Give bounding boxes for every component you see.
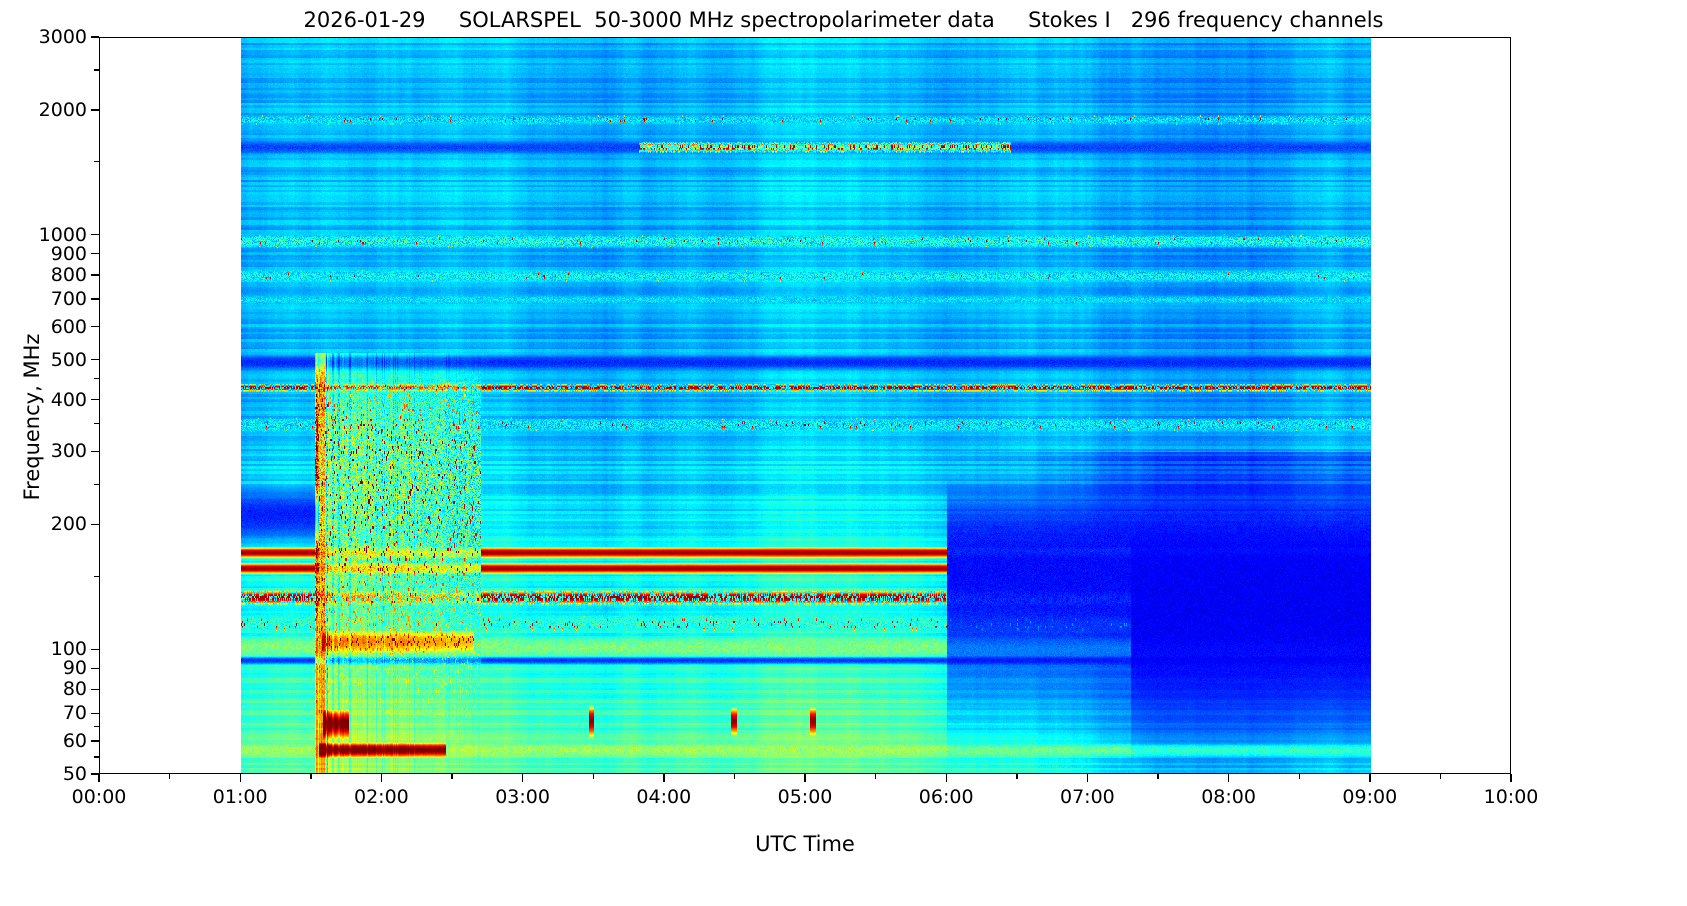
y-tick-mark (91, 524, 99, 525)
x-tick-mark-minor (1016, 774, 1017, 779)
x-tick-mark-minor (1157, 774, 1158, 779)
y-tick-label: 70 (63, 702, 87, 724)
x-tick-label: 08:00 (1201, 786, 1256, 808)
x-tick-mark-minor (734, 774, 735, 779)
x-axis-label: UTC Time (99, 832, 1511, 856)
y-tick-label: 50 (63, 763, 87, 785)
x-tick-mark (946, 774, 947, 782)
x-tick-mark-minor (169, 774, 170, 779)
y-tick-mark (91, 326, 99, 327)
y-tick-mark (91, 274, 99, 275)
y-tick-label: 80 (63, 678, 87, 700)
y-axis: 3000200010009008007006005004003002001009… (0, 37, 99, 774)
x-tick-label: 09:00 (1342, 786, 1397, 808)
plot-area (99, 37, 1511, 774)
y-tick-label: 300 (51, 440, 87, 462)
x-tick-label: 06:00 (919, 786, 974, 808)
y-tick-label: 90 (63, 657, 87, 679)
x-tick-mark-minor (1299, 774, 1300, 779)
x-tick-label: 05:00 (778, 786, 833, 808)
x-tick-mark-minor (875, 774, 876, 779)
y-tick-label: 400 (51, 389, 87, 411)
x-tick-label: 01:00 (213, 786, 268, 808)
y-tick-mark (91, 36, 99, 37)
figure-title: 2026-01-29 SOLARSPEL 50-3000 MHz spectro… (0, 8, 1687, 32)
x-tick-mark (1369, 774, 1370, 782)
x-tick-mark (522, 774, 523, 782)
x-tick-mark-minor (310, 774, 311, 779)
x-tick-mark (98, 774, 99, 782)
x-tick-mark (663, 774, 664, 782)
y-tick-label: 800 (51, 264, 87, 286)
y-tick-label: 2000 (39, 99, 87, 121)
y-tick-label: 900 (51, 243, 87, 265)
y-tick-mark (91, 689, 99, 690)
x-axis: 00:0001:0002:0003:0004:0005:0006:0007:00… (99, 774, 1511, 834)
y-tick-mark (91, 253, 99, 254)
x-tick-mark (1087, 774, 1088, 782)
x-tick-mark (1228, 774, 1229, 782)
y-tick-mark (91, 298, 99, 299)
y-tick-mark (91, 668, 99, 669)
y-tick-mark (91, 649, 99, 650)
x-tick-mark (381, 774, 382, 782)
x-tick-mark-minor (1440, 774, 1441, 779)
y-tick-label: 3000 (39, 26, 87, 48)
x-tick-mark-minor (593, 774, 594, 779)
y-tick-label: 500 (51, 349, 87, 371)
y-tick-mark (91, 234, 99, 235)
x-tick-label: 00:00 (72, 786, 127, 808)
x-tick-label: 03:00 (495, 786, 550, 808)
y-tick-label: 600 (51, 316, 87, 338)
x-tick-label: 04:00 (636, 786, 691, 808)
y-tick-mark (91, 109, 99, 110)
x-tick-label: 02:00 (354, 786, 409, 808)
y-tick-label: 200 (51, 513, 87, 535)
dynamic-spectrum-image (100, 38, 1511, 774)
x-tick-label: 07:00 (1060, 786, 1115, 808)
x-tick-mark-minor (451, 774, 452, 779)
y-tick-mark (91, 713, 99, 714)
y-tick-mark (91, 740, 99, 741)
y-tick-mark (91, 451, 99, 452)
y-tick-mark (91, 359, 99, 360)
x-tick-mark (1510, 774, 1511, 782)
y-tick-label: 700 (51, 288, 87, 310)
x-tick-mark (804, 774, 805, 782)
spectrogram-figure: 2026-01-29 SOLARSPEL 50-3000 MHz spectro… (0, 0, 1687, 906)
x-tick-mark (240, 774, 241, 782)
y-tick-label: 60 (63, 730, 87, 752)
y-tick-mark (91, 399, 99, 400)
x-tick-label: 10:00 (1484, 786, 1539, 808)
